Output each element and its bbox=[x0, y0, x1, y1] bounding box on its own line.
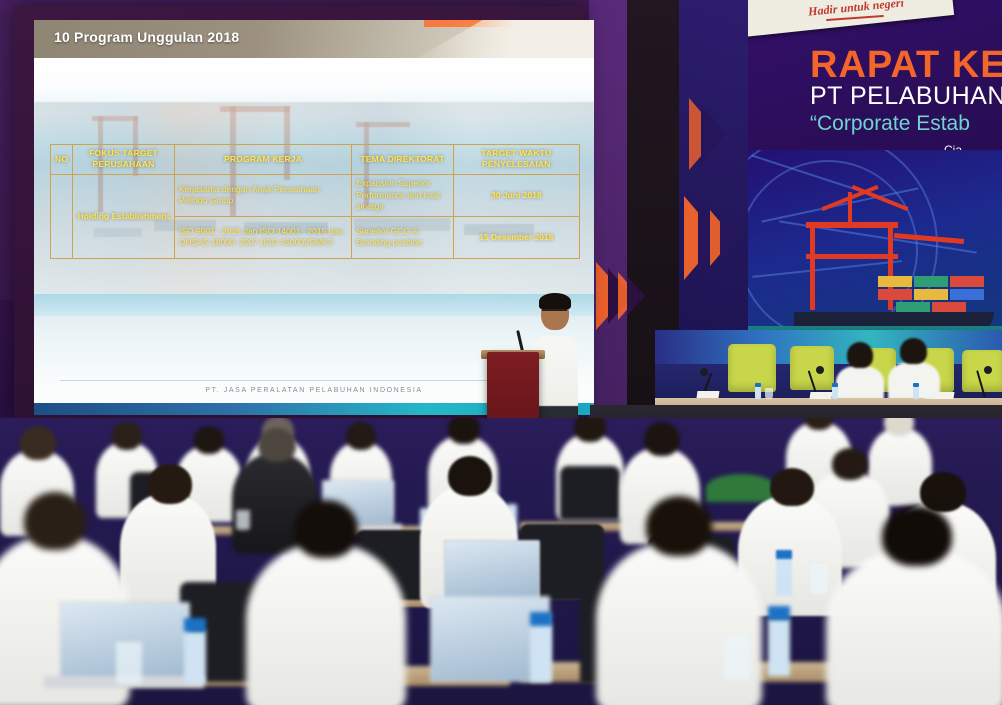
banner-port-illustration bbox=[748, 150, 1002, 352]
eyeglasses bbox=[542, 309, 567, 314]
cell-fokus: Holding Establishment bbox=[73, 174, 175, 258]
banner-headline: RAPAT KER bbox=[810, 44, 1002, 87]
drinking-glass bbox=[236, 510, 250, 530]
attendee bbox=[246, 544, 406, 705]
col-header-fokus: FOKUS TARGET PERUSAHAAN bbox=[73, 145, 175, 175]
water-bottle bbox=[776, 558, 792, 596]
attendee bbox=[826, 550, 1002, 705]
cell-program: Kerjasama dengan Anak Perusahaan Pelindo… bbox=[174, 174, 351, 216]
water-bottle bbox=[530, 624, 552, 682]
col-header-tema: TEMA DIREKTORAT bbox=[352, 145, 453, 175]
table-row: Holding Establishment Kerjasama dengan A… bbox=[51, 174, 580, 216]
cell-no bbox=[51, 174, 73, 258]
bottle-cap bbox=[184, 618, 206, 632]
cell-tema: Superior GCG & Branding position bbox=[352, 216, 453, 258]
slide-sea-band bbox=[34, 294, 594, 316]
col-header-target: TARGET WAKTU PENYELESAIAN bbox=[453, 145, 579, 175]
cell-target: 15 Desember 2018 bbox=[453, 216, 579, 258]
water-bottle bbox=[184, 630, 206, 684]
slide-accent-stripe bbox=[424, 20, 594, 27]
speaker-hair bbox=[539, 293, 571, 310]
backdrop-purple-band bbox=[589, 0, 631, 470]
drinking-glass bbox=[116, 642, 142, 684]
slide-footer-text: PT. JASA PERALATAN PELABUHAN INDONESIA bbox=[205, 387, 422, 394]
audience-area bbox=[0, 418, 1002, 705]
col-header-no: NO bbox=[51, 145, 73, 175]
bottle-cap bbox=[776, 550, 792, 559]
water-bottle bbox=[768, 618, 790, 676]
event-banner: Hadir untuk negeri RAPAT KER PT PELABUHA… bbox=[748, 0, 1002, 352]
banner-theme: “Corporate Estab bbox=[810, 112, 970, 136]
bottle-cap bbox=[530, 612, 552, 626]
name-card bbox=[810, 392, 833, 399]
slide-title: 10 Program Unggulan 2018 bbox=[54, 29, 239, 45]
col-header-program: PROGRAM KERJA bbox=[174, 145, 351, 175]
cell-tema: Expansion Superior Performance and total… bbox=[352, 174, 453, 216]
name-card bbox=[930, 392, 955, 399]
name-card bbox=[697, 391, 720, 398]
office-chair bbox=[560, 466, 620, 520]
cell-target: 30 Juni 2018 bbox=[453, 174, 579, 216]
conference-photo: 10 Program Unggulan 2018 bbox=[0, 0, 1002, 705]
bottle-cap bbox=[768, 606, 790, 620]
drinking-glass bbox=[724, 636, 750, 680]
banner-subheadline: PT PELABUHAN bbox=[810, 82, 1002, 111]
laptop bbox=[444, 540, 540, 600]
attendee bbox=[596, 542, 762, 705]
cell-program: ISO 9001 : 2015 dan ISO 14001 : 2015 dan… bbox=[174, 216, 351, 258]
slide-data-table: NO FOKUS TARGET PERUSAHAAN PROGRAM KERJA… bbox=[50, 144, 580, 259]
table-header-row: NO FOKUS TARGET PERUSAHAAN PROGRAM KERJA… bbox=[51, 145, 580, 175]
backdrop-blue-right bbox=[679, 0, 749, 360]
